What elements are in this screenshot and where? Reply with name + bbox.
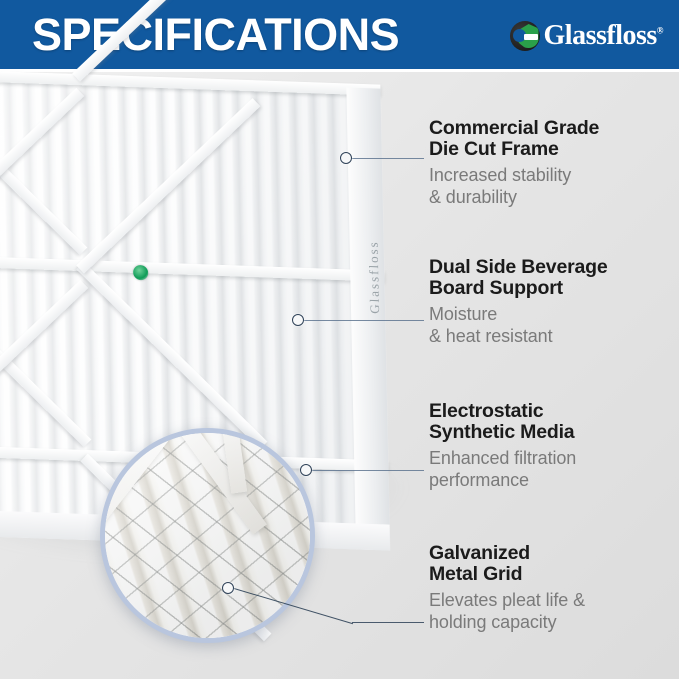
page-title: SPECIFICATIONS bbox=[32, 9, 399, 61]
callout-galvanized-metal-grid: Galvanized Metal Grid Elevates pleat lif… bbox=[429, 543, 679, 633]
brand-logo: Glassfloss® bbox=[510, 21, 663, 51]
callout-sub-line1: Elevates pleat life & bbox=[429, 589, 679, 611]
callout-title: Commercial Grade Die Cut Frame bbox=[429, 118, 679, 159]
callout-dual-side-beverage-board-support: Dual Side Beverage Board Support Moistur… bbox=[429, 257, 679, 347]
brand-name-text: Glassfloss bbox=[544, 20, 657, 51]
callout-title-line2: Synthetic Media bbox=[429, 422, 679, 443]
callout-title: Dual Side Beverage Board Support bbox=[429, 257, 679, 298]
callout-title-line1: Dual Side Beverage bbox=[429, 257, 679, 278]
leader-line-4 bbox=[352, 622, 424, 623]
green-logo-dot-icon bbox=[133, 265, 148, 281]
leader-line-3 bbox=[312, 470, 424, 471]
callout-sub-line1: Increased stability bbox=[429, 164, 679, 186]
callout-dot-icon-1 bbox=[340, 152, 352, 164]
callout-commercial-grade-die-cut-frame: Commercial Grade Die Cut Frame Increased… bbox=[429, 118, 679, 208]
callout-title-line2: Die Cut Frame bbox=[429, 139, 679, 160]
glassfloss-g-logo-icon bbox=[510, 21, 540, 51]
callout-subtitle: Elevates pleat life & holding capacity bbox=[429, 589, 679, 633]
callout-sub-line1: Enhanced filtration bbox=[429, 447, 679, 469]
brand-trademark: ® bbox=[657, 26, 663, 36]
leader-line-1 bbox=[352, 158, 424, 159]
callout-sub-line2: & durability bbox=[429, 186, 679, 208]
callout-title-line2: Metal Grid bbox=[429, 564, 679, 585]
header-bar: SPECIFICATIONS Glassfloss® bbox=[0, 0, 679, 72]
callout-dot-icon-4 bbox=[222, 582, 234, 594]
callout-title-line1: Commercial Grade bbox=[429, 118, 679, 139]
callout-subtitle: Increased stability & durability bbox=[429, 164, 679, 208]
callout-title-line1: Galvanized bbox=[429, 543, 679, 564]
magnified-detail-circle-icon bbox=[100, 428, 315, 643]
callout-electrostatic-synthetic-media: Electrostatic Synthetic Media Enhanced f… bbox=[429, 401, 679, 491]
callout-sub-line2: & heat resistant bbox=[429, 325, 679, 347]
callout-sub-line1: Moisture bbox=[429, 303, 679, 325]
callout-title: Electrostatic Synthetic Media bbox=[429, 401, 679, 442]
leader-line-2 bbox=[304, 320, 424, 321]
magnifier-glass-shading bbox=[105, 433, 310, 638]
specifications-infographic: SPECIFICATIONS Glassfloss® Gla bbox=[0, 0, 679, 679]
callout-title-line2: Board Support bbox=[429, 278, 679, 299]
brand-name: Glassfloss® bbox=[544, 22, 663, 50]
callout-dot-icon-3 bbox=[300, 464, 312, 476]
callout-subtitle: Enhanced filtration performance bbox=[429, 447, 679, 491]
callout-sub-line2: performance bbox=[429, 469, 679, 491]
frame-brand-label: Glassfloss bbox=[366, 240, 384, 314]
callout-dot-icon-2 bbox=[292, 314, 304, 326]
callout-title: Galvanized Metal Grid bbox=[429, 543, 679, 584]
callout-title-line1: Electrostatic bbox=[429, 401, 679, 422]
callout-sub-line2: holding capacity bbox=[429, 611, 679, 633]
callout-subtitle: Moisture & heat resistant bbox=[429, 303, 679, 347]
